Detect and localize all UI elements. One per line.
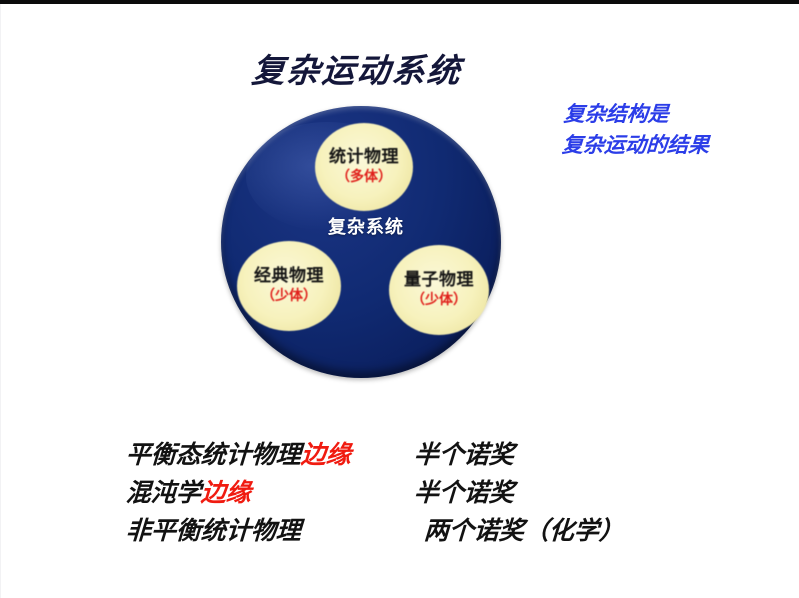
node-quantum-physics-main: 量子物理 bbox=[404, 272, 474, 290]
page-title: 复杂运动系统 bbox=[250, 44, 553, 92]
note-row: 非平衡统计物理 两个诺奖（化学） bbox=[125, 511, 767, 549]
node-statistical-physics: 统计物理 （多体） bbox=[315, 123, 413, 211]
notes-list: 平衡态统计物理边缘 半个诺奖 混沌学边缘 半个诺奖 非平衡统计物理 两个诺奖（化… bbox=[126, 435, 766, 549]
note-row-3-left: 非平衡统计物理 bbox=[125, 511, 302, 547]
top-border-band bbox=[0, 0, 799, 4]
note-row: 平衡态统计物理边缘 半个诺奖 bbox=[125, 435, 767, 473]
note-row: 混沌学边缘 半个诺奖 bbox=[125, 473, 767, 511]
complex-system-label: 复杂系统 bbox=[301, 213, 431, 239]
note-row-1-right: 半个诺奖 bbox=[413, 435, 515, 471]
note-row-2-left: 混沌学边缘 bbox=[125, 473, 252, 509]
note-row-1-left: 平衡态统计物理边缘 bbox=[125, 435, 352, 471]
note-row-3-left-plain: 非平衡统计物理 bbox=[125, 516, 302, 545]
slide-canvas: 复杂运动系统 复杂结构是 复杂运动的结果 复杂系统 统计物理 （多体） 经典物理… bbox=[0, 0, 799, 598]
node-classical-physics-main: 经典物理 bbox=[254, 268, 324, 286]
note-row-1-emphasis: 边缘 bbox=[300, 440, 352, 469]
note-row-3-right: 两个诺奖（化学） bbox=[423, 511, 625, 547]
node-quantum-physics-sub: （少体） bbox=[411, 293, 467, 308]
node-statistical-physics-sub: （多体） bbox=[336, 170, 392, 185]
caption-line-2: 复杂运动的结果 bbox=[561, 129, 799, 160]
caption-block: 复杂结构是 复杂运动的结果 bbox=[561, 98, 799, 160]
note-row-2-right: 半个诺奖 bbox=[413, 473, 515, 509]
node-classical-physics: 经典物理 （少体） bbox=[237, 241, 341, 331]
node-statistical-physics-main: 统计物理 bbox=[329, 149, 399, 167]
node-classical-physics-sub: （少体） bbox=[261, 289, 317, 304]
note-row-2-emphasis: 边缘 bbox=[200, 478, 252, 507]
left-border-edge bbox=[0, 4, 1, 598]
note-row-1-left-plain: 平衡态统计物理 bbox=[125, 440, 302, 469]
note-row-2-left-plain: 混沌学 bbox=[125, 478, 202, 507]
caption-line-1: 复杂结构是 bbox=[563, 101, 669, 126]
node-quantum-physics: 量子物理 （少体） bbox=[389, 245, 489, 335]
